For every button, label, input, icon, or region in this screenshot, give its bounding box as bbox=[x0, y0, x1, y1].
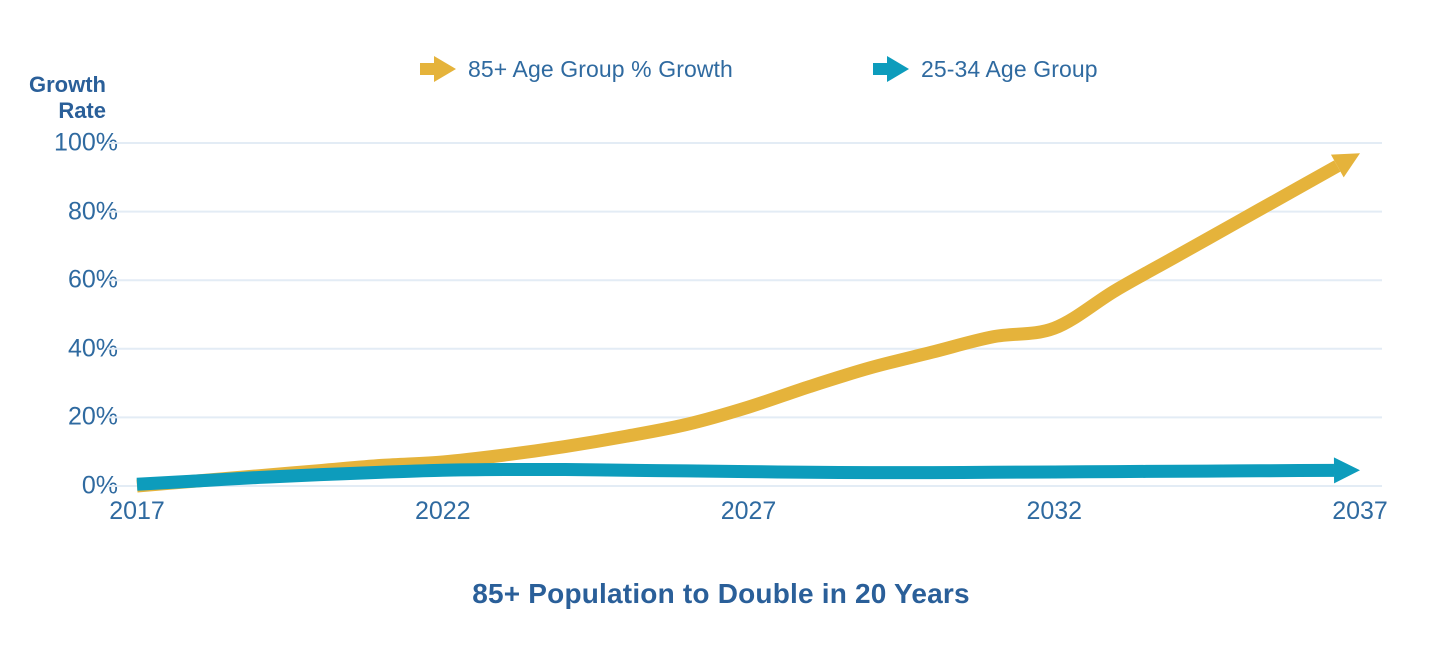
chart-title: 85+ Population to Double in 20 Years bbox=[0, 578, 1442, 610]
series-line-1 bbox=[137, 469, 1334, 484]
growth-rate-line-chart: 85+ Age Group % Growth 25-34 Age Group G… bbox=[0, 0, 1442, 663]
series-line-0 bbox=[137, 166, 1337, 486]
series-arrowhead-1 bbox=[1334, 457, 1360, 483]
plot-area bbox=[0, 0, 1442, 663]
